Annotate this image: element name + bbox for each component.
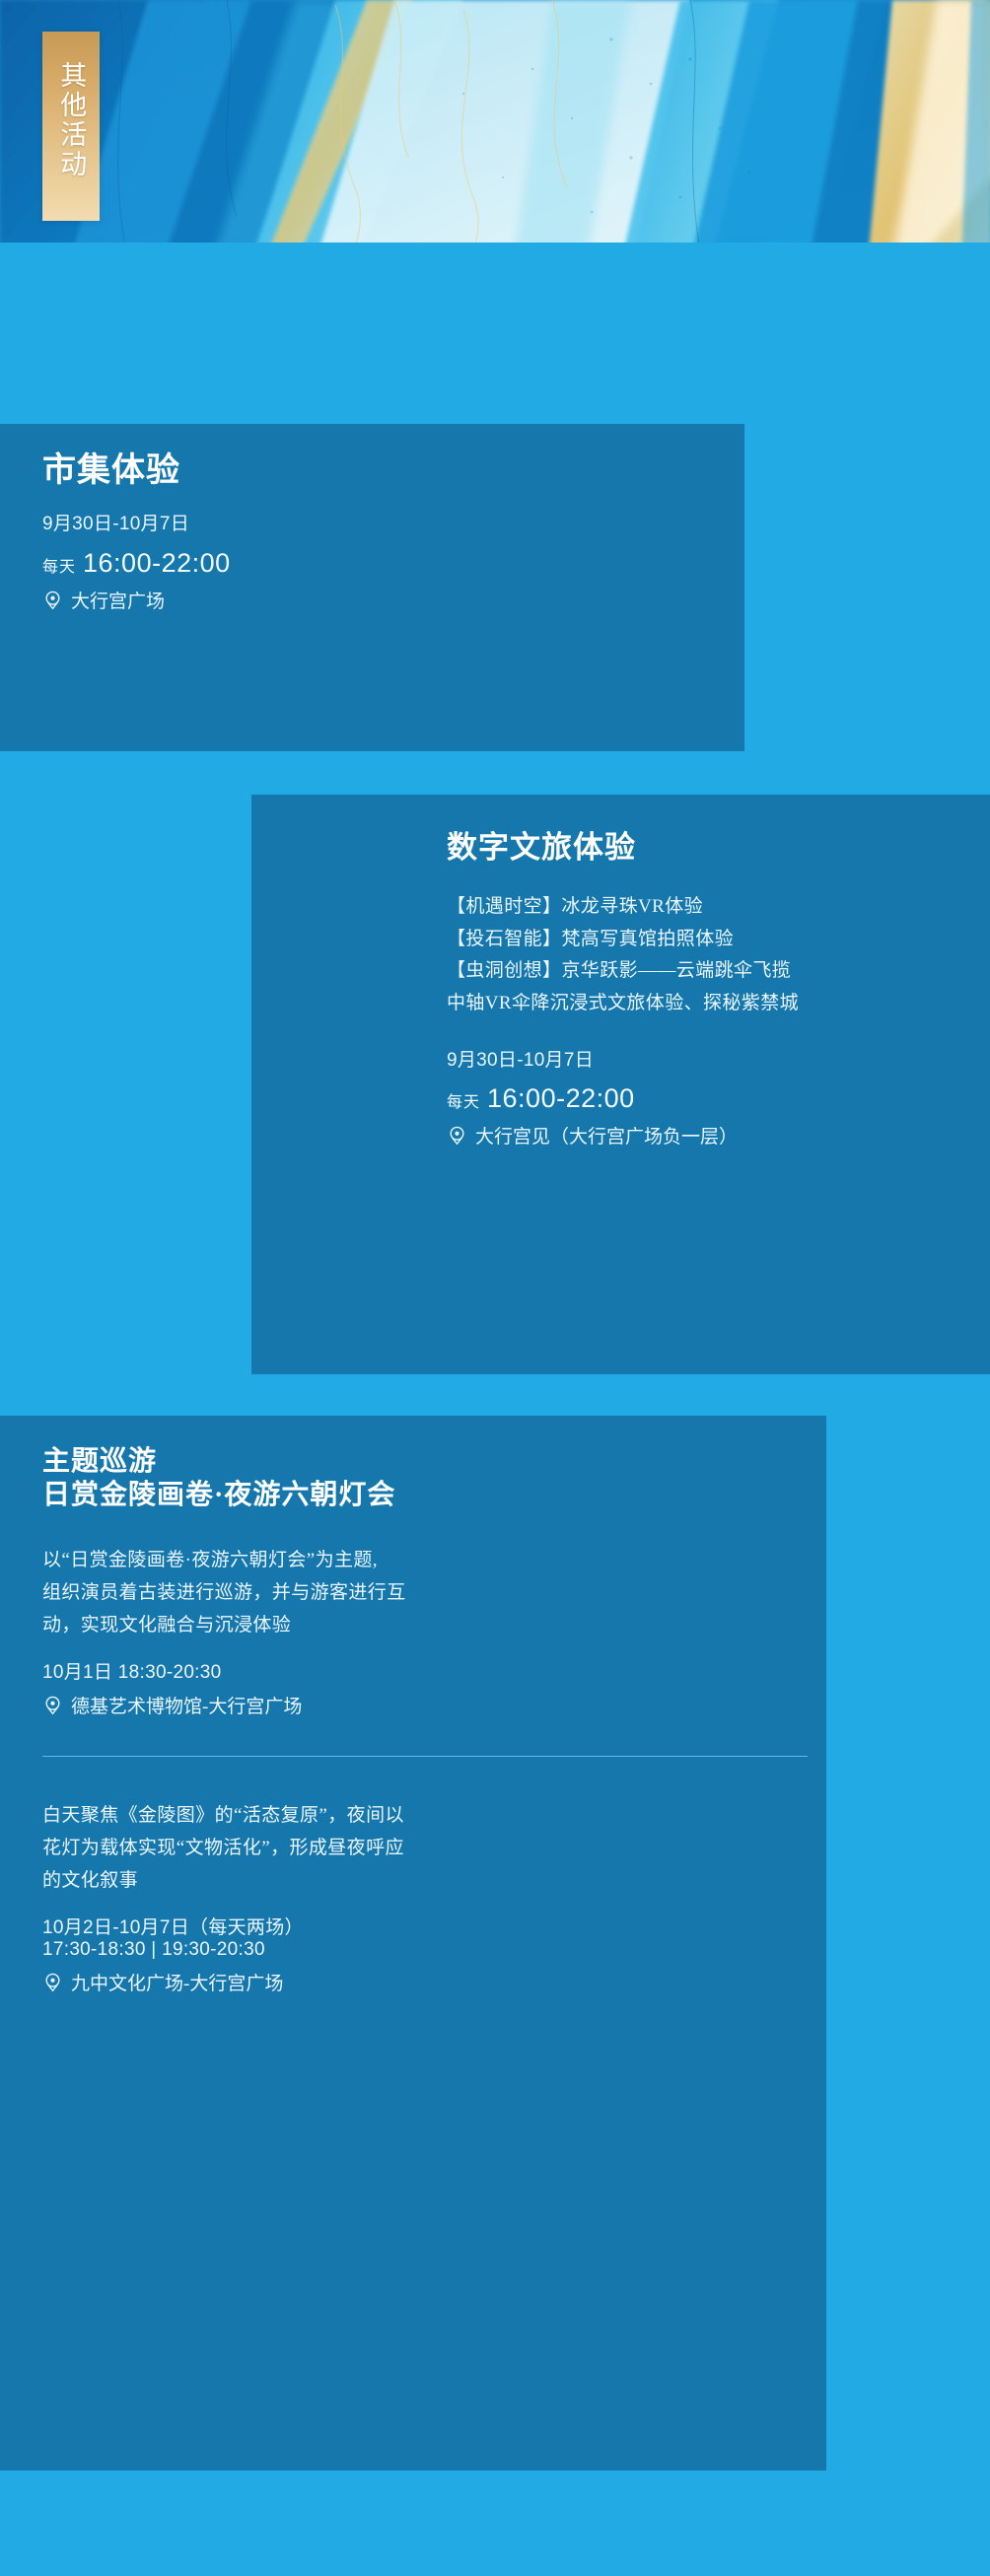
card-3-location-row: 九中文化广场-大行宫广场 <box>42 1969 802 1995</box>
card-digital-tourism[interactable]: 数字文旅体验 【机遇时空】冰龙寻珠VR体验 【投石智能】梵高写真馆拍照体验 【虫… <box>251 795 990 1374</box>
card-3-location: 德基艺术博物馆-大行宫广场 <box>71 1692 302 1718</box>
card-2-content: 数字文旅体验 【机遇时空】冰龙寻珠VR体验 【投石智能】梵高写真馆拍照体验 【虫… <box>447 830 979 1149</box>
map-pin-icon <box>42 1695 63 1715</box>
section-divider <box>42 1756 808 1757</box>
card-2-item: 【投石智能】梵高写真馆拍照体验 <box>447 924 979 956</box>
card-2-title: 数字文旅体验 <box>447 830 979 866</box>
card-3-paragraph-line: 动，实现文化融合与沉浸体验 <box>42 1610 802 1642</box>
map-pin-icon <box>42 1972 63 1992</box>
map-pin-icon <box>42 590 63 610</box>
card-2-date: 9月30日-10月7日 <box>447 1046 979 1076</box>
card-market-experience[interactable]: 市集体验 9月30日-10月7日 每天 16:00-22:00 大行宫广场 <box>0 424 744 751</box>
card-3-time-slots: 17:30-18:30 | 19:30-20:30 <box>42 1939 802 1961</box>
section-tab-label: 其他活动 <box>54 61 89 179</box>
hero-artwork <box>0 0 990 262</box>
card-3-paragraph-line: 的文化叙事 <box>42 1865 802 1898</box>
card-3-content: 主题巡游 日赏金陵画卷·夜游六朝灯会 以“日赏金陵画卷·夜游六朝灯会”为主题, … <box>42 1445 802 1995</box>
card-1-time: 每天 16:00-22:00 <box>42 548 744 579</box>
card-2-location: 大行宫见（大行宫广场负一层） <box>475 1122 738 1149</box>
card-2-item: 【机遇时空】冰龙寻珠VR体验 <box>447 891 979 924</box>
hero-banner <box>0 0 990 262</box>
card-2-item: 中轴VR伞降沉浸式文旅体验、探秘紫禁城 <box>447 988 979 1020</box>
card-2-item: 【虫洞创想】京华跃影——云端跳伞飞揽 <box>447 955 979 988</box>
card-3-paragraph-line: 以“日赏金陵画卷·夜游六朝灯会”为主题, <box>42 1545 802 1577</box>
card-3-title: 主题巡游 <box>42 1445 802 1479</box>
card-1-title: 市集体验 <box>42 452 744 490</box>
section-tab: 其他活动 <box>42 32 100 221</box>
card-2-location-row: 大行宫见（大行宫广场负一层） <box>447 1122 979 1149</box>
card-theme-parade[interactable]: 主题巡游 日赏金陵画卷·夜游六朝灯会 以“日赏金陵画卷·夜游六朝灯会”为主题, … <box>0 1416 826 2471</box>
card-3-date-time: 10月1日 18:30-20:30 <box>42 1657 802 1684</box>
card-2-time: 每天 16:00-22:00 <box>447 1083 979 1114</box>
card-3-location: 九中文化广场-大行宫广场 <box>71 1969 283 1995</box>
card-1-time-label: 每天 <box>42 553 76 577</box>
poster-page: 其他活动 市集体验 9月30日-10月7日 每天 16:00-22:00 大行宫… <box>0 0 990 2576</box>
card-3-subtitle: 日赏金陵画卷·夜游六朝灯会 <box>42 1479 802 1512</box>
card-3-section: 以“日赏金陵画卷·夜游六朝灯会”为主题, 组织演员着古装进行巡游，并与游客进行互… <box>42 1545 802 1718</box>
card-2-time-value: 16:00-22:00 <box>487 1083 635 1114</box>
card-1-content: 市集体验 9月30日-10月7日 每天 16:00-22:00 大行宫广场 <box>42 452 744 613</box>
card-1-date: 9月30日-10月7日 <box>42 510 744 539</box>
card-1-location: 大行宫广场 <box>71 587 165 613</box>
card-3-location-row: 德基艺术博物馆-大行宫广场 <box>42 1692 802 1718</box>
card-1-time-value: 16:00-22:00 <box>83 548 231 579</box>
map-pin-icon <box>447 1125 467 1146</box>
card-2-time-label: 每天 <box>447 1088 480 1112</box>
card-3-date-time: 10月2日-10月7日（每天两场） <box>42 1913 802 1939</box>
card-1-location-row: 大行宫广场 <box>42 587 744 613</box>
card-3-paragraph-line: 组织演员着古装进行巡游，并与游客进行互 <box>42 1577 802 1610</box>
card-3-paragraph-line: 花灯为载体实现“文物活化”，形成昼夜呼应 <box>42 1833 802 1865</box>
card-3-paragraph-line: 白天聚焦《金陵图》的“活态复原”，夜间以 <box>42 1800 802 1833</box>
card-3-section: 白天聚焦《金陵图》的“活态复原”，夜间以 花灯为载体实现“文物活化”，形成昼夜呼… <box>42 1800 802 1995</box>
